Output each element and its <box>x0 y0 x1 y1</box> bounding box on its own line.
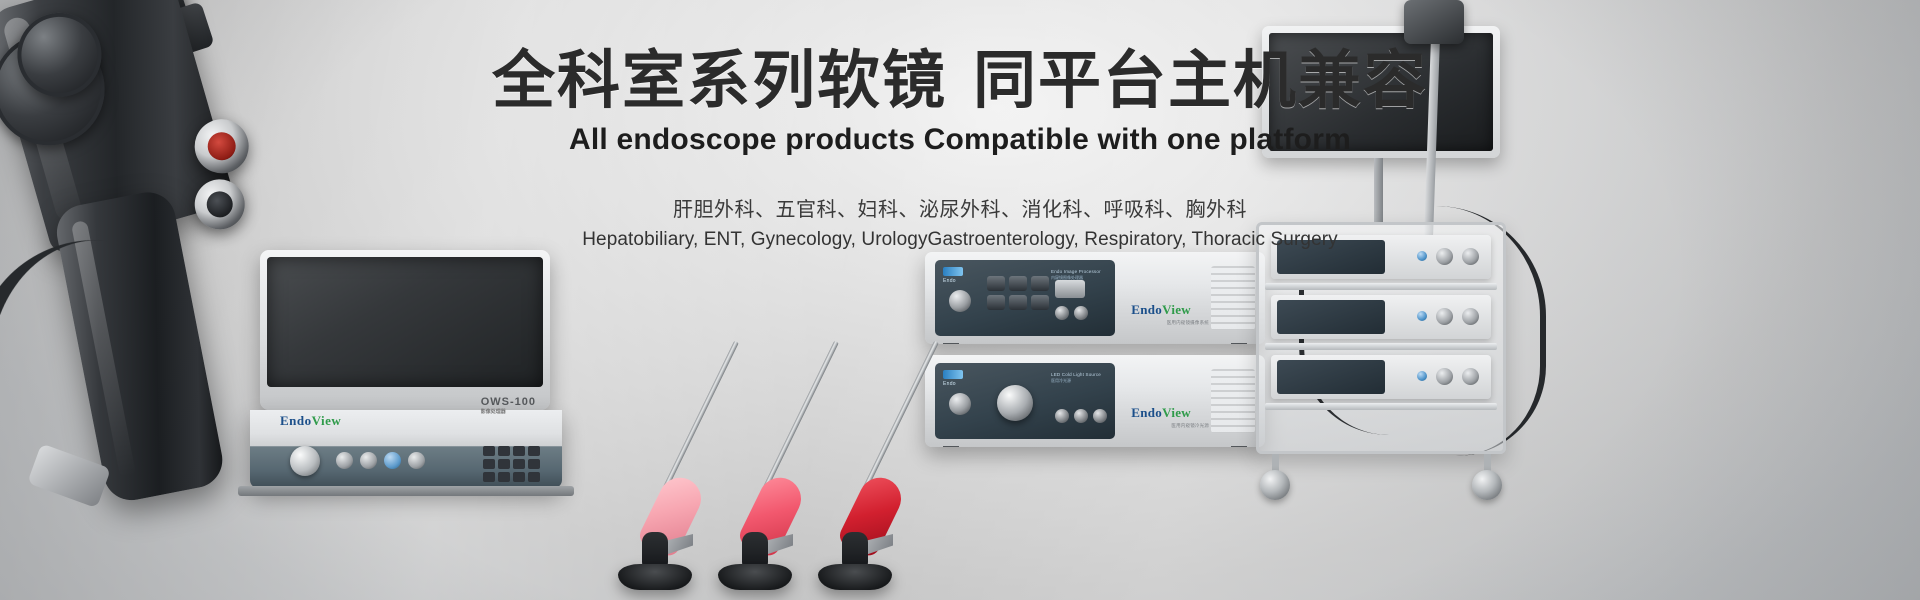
light-source-mode-button <box>1093 409 1107 423</box>
processor-keypad <box>987 276 1049 310</box>
headline-part-2: 同平台主机兼容 <box>973 46 1428 116</box>
keypad-key <box>498 446 510 456</box>
cart-device-panel <box>1277 300 1385 334</box>
keypad-key <box>483 459 495 469</box>
workstation-button-row <box>336 452 425 469</box>
processor-front-panel: Endo Endo Image Processor 内窥镜图像处理器 <box>935 260 1115 336</box>
cart-device-middle <box>1271 295 1491 339</box>
light-source-panel-label-en: LED Cold Light Source <box>1051 372 1101 377</box>
workstation-model-text: OWS-100 <box>481 396 536 408</box>
light-source-front-panel: Endo LED Cold Light Source 医用冷光源 <box>935 363 1115 439</box>
processor-foot-left <box>943 343 959 344</box>
keypad-key <box>483 446 495 456</box>
workstation-model-subtext: 影像处理器 <box>481 408 536 415</box>
keypad-key <box>528 459 540 469</box>
processor-key <box>987 295 1005 310</box>
keypad-key <box>513 446 525 456</box>
workstation-button-3-blue <box>384 452 401 469</box>
processor-brand-prefix: Endo <box>1131 302 1162 317</box>
workstation-keypad <box>483 446 540 482</box>
light-source-brand-tag <box>943 370 963 379</box>
workstation-model-label: OWS-100 影像处理器 <box>481 396 536 415</box>
light-source-foot-right <box>1231 446 1247 447</box>
processor-stack-image: Endo Endo Image Processor 内窥镜图像处理器 EndoV… <box>925 252 1280 462</box>
processor-vent <box>1211 266 1255 330</box>
monitor-workstation-image: OWS-100 影像处理器 EndoView <box>232 250 562 500</box>
cart-device-knob <box>1462 248 1479 265</box>
workstation-button-1 <box>336 452 353 469</box>
processor-brand-subtext: 医用内窥镜摄像系统 <box>1167 320 1209 326</box>
banner-text-block: 全科室系列软镜同平台主机兼容 All endoscope products Co… <box>0 46 1920 251</box>
light-source-unit: Endo LED Cold Light Source 医用冷光源 EndoVie… <box>925 355 1265 447</box>
processor-panel-label-en: Endo Image Processor <box>1051 269 1101 274</box>
processor-small-dial <box>949 290 971 312</box>
laparoscopic-instrument-pink <box>700 320 810 590</box>
light-source-vent <box>1211 369 1255 433</box>
processor-key <box>987 276 1005 291</box>
light-source-brand-subtext: 医用内窥镜冷光源 <box>1171 423 1209 429</box>
light-source-foot-left <box>943 446 959 447</box>
cart-frame <box>1256 222 1506 454</box>
keypad-key <box>498 459 510 469</box>
workstation-button-2 <box>360 452 377 469</box>
keypad-key <box>483 472 495 482</box>
light-source-tag-text: Endo <box>943 381 956 387</box>
instrument-stand-base <box>618 564 692 590</box>
light-source-power-button <box>1055 409 1069 423</box>
cart-device-knob <box>1462 308 1479 325</box>
departments-english: Hepatobiliary, ENT, Gynecology, UrologyG… <box>0 229 1920 251</box>
cart-wheel-left <box>1260 470 1290 500</box>
cart-device-lower <box>1271 355 1491 399</box>
keypad-key <box>513 472 525 482</box>
processor-key <box>1009 276 1027 291</box>
processor-key <box>1009 295 1027 310</box>
light-source-brand-logo: EndoView <box>1131 405 1191 421</box>
cart-device-panel <box>1277 360 1385 394</box>
departments-chinese: 肝胆外科、五官科、妇科、泌尿外科、消化科、呼吸科、胸外科 <box>0 193 1920 222</box>
instrument-stand-base <box>718 564 792 590</box>
processor-control-buttons <box>1055 306 1088 320</box>
cart-shelf-3 <box>1265 403 1497 410</box>
cart-shelf-2 <box>1265 343 1497 350</box>
cart-device-knob-secondary <box>1436 308 1453 325</box>
banner-subheadline: All endoscope products Compatible with o… <box>0 123 1920 157</box>
processor-control-button <box>1055 306 1069 320</box>
workstation-knob <box>290 446 320 476</box>
instrument-stand-base <box>818 564 892 590</box>
light-source-output-port <box>949 393 971 415</box>
light-source-brightness-knob <box>997 385 1033 421</box>
keypad-key <box>513 459 525 469</box>
light-source-control-buttons <box>1055 409 1107 423</box>
light-source-brand-suffix: View <box>1162 405 1191 420</box>
workstation-foot <box>238 486 574 496</box>
keypad-key <box>528 472 540 482</box>
workstation-brand-suffix: View <box>312 413 342 428</box>
workstation-brand-prefix: Endo <box>280 413 312 428</box>
headline-part-1: 全科室系列软镜 <box>492 46 947 116</box>
banner-headline: 全科室系列软镜同平台主机兼容 <box>0 46 1920 117</box>
laparoscopic-instrument-light-pink <box>600 320 710 590</box>
cart-device-knob-secondary <box>1436 248 1453 265</box>
processor-foot-right <box>1231 343 1247 344</box>
workstation-brand-logo: EndoView <box>280 413 341 429</box>
image-processor-unit: Endo Endo Image Processor 内窥镜图像处理器 EndoV… <box>925 252 1265 344</box>
light-source-standby-button <box>1074 409 1088 423</box>
processor-key <box>1031 276 1049 291</box>
processor-key <box>1031 295 1049 310</box>
cart-device-indicator <box>1417 371 1427 381</box>
light-source-panel-label-cn: 医用冷光源 <box>1051 378 1071 384</box>
laparoscopic-instrument-red <box>800 320 910 590</box>
cart-device-indicator <box>1417 251 1427 261</box>
workstation-control-base: OWS-100 影像处理器 EndoView <box>250 410 562 488</box>
workstation-button-4 <box>408 452 425 469</box>
workstation-display-screen <box>267 257 543 387</box>
processor-brand-logo: EndoView <box>1131 302 1191 318</box>
cart-device-knob-secondary <box>1436 368 1453 385</box>
cart-wheel-right <box>1472 470 1502 500</box>
keypad-key <box>498 472 510 482</box>
workstation-display-shell <box>260 250 550 410</box>
light-source-brand-prefix: Endo <box>1131 405 1162 420</box>
processor-port <box>1055 280 1085 298</box>
cart-device-indicator <box>1417 311 1427 321</box>
keypad-key <box>528 446 540 456</box>
cart-device-knob <box>1462 368 1479 385</box>
processor-tag-text: Endo <box>943 278 956 284</box>
processor-brand-suffix: View <box>1162 302 1191 317</box>
product-banner: OWS-100 影像处理器 EndoView <box>0 0 1920 600</box>
cart-mounted-endoscope-head <box>1404 0 1464 44</box>
cart-shelf-1 <box>1265 283 1497 290</box>
processor-brand-tag <box>943 267 963 276</box>
processor-control-button <box>1074 306 1088 320</box>
